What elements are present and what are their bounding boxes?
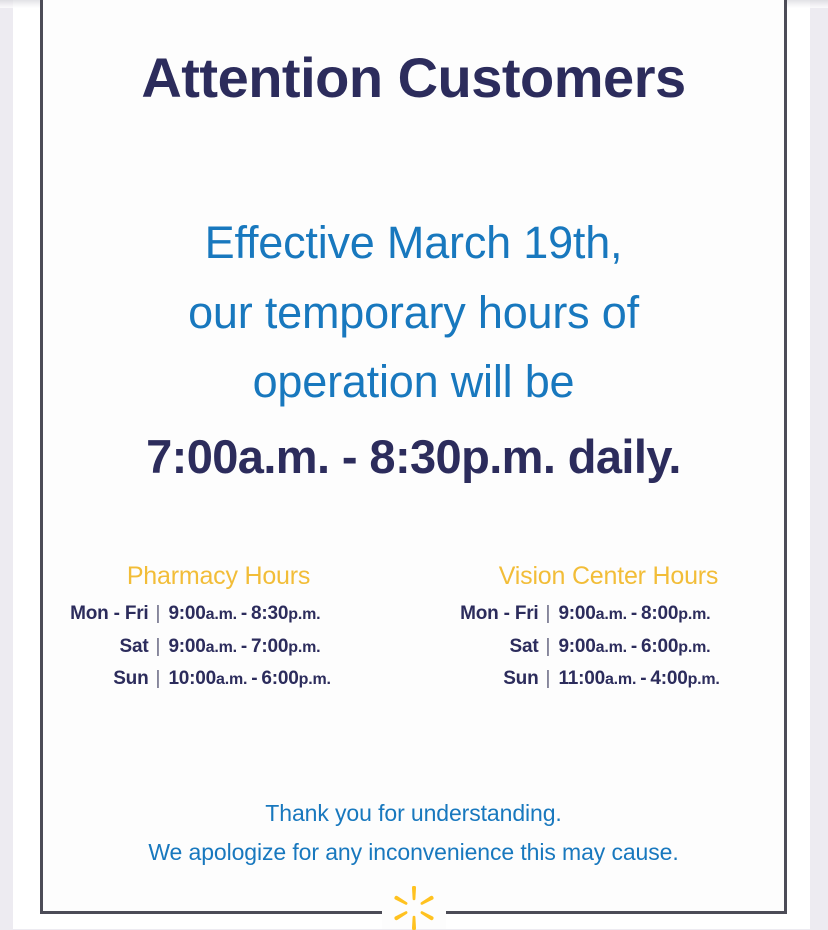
open-time: 11:00 (558, 668, 605, 689)
open-time: 9:00 (558, 603, 595, 624)
store-hours-headline: 7:00a.m. - 8:30p.m. daily. (43, 417, 784, 484)
open-time: 10:00 (168, 668, 216, 689)
department-pharmacy: Pharmacy Hours Mon - Fri | 9:00a.m.-8:30… (63, 562, 375, 696)
walmart-spark-logo (382, 887, 446, 929)
close-meridiem: p.m. (678, 606, 710, 623)
hours-separator: | (156, 598, 169, 631)
open-meridiem: a.m. (216, 671, 247, 688)
hours-day-label: Sat (63, 631, 156, 664)
effective-line-2: our temporary hours of (43, 278, 784, 348)
open-meridiem: a.m. (596, 639, 627, 656)
flyer-card: Attention Customers Effective March 19th… (40, 0, 787, 914)
hours-row: Sat | 9:00a.m.-7:00p.m. (63, 631, 375, 664)
close-meridiem: p.m. (288, 606, 320, 623)
department-title: Vision Center Hours (453, 562, 765, 591)
hours-time-range: 10:00a.m.-6:00p.m. (168, 663, 374, 696)
hours-separator: | (546, 631, 559, 664)
close-time: 4:00 (650, 668, 687, 689)
open-time: 9:00 (168, 636, 205, 657)
time-dash: - (627, 603, 641, 624)
time-dash: - (627, 636, 641, 657)
effective-notice: Effective March 19th, our temporary hour… (43, 108, 784, 417)
hours-row: Sun | 11:00a.m.-4:00p.m. (453, 663, 765, 696)
open-meridiem: a.m. (206, 606, 237, 623)
department-hours-list: Mon - Fri | 9:00a.m.-8:30p.m. Sat | 9:00… (63, 598, 375, 696)
page-title: Attention Customers (43, 0, 784, 108)
close-time: 6:00 (641, 636, 678, 657)
hours-day-label: Sun (453, 663, 546, 696)
department-vision-center: Vision Center Hours Mon - Fri | 9:00a.m.… (453, 562, 765, 696)
open-meridiem: a.m. (605, 671, 636, 688)
hours-time-range: 11:00a.m.-4:00p.m. (558, 663, 764, 696)
close-meridiem: p.m. (678, 639, 710, 656)
effective-line-1: Effective March 19th, (43, 208, 784, 278)
time-dash: - (237, 636, 251, 657)
page-right-margin (810, 0, 828, 929)
close-meridiem: p.m. (688, 671, 720, 688)
department-hours-section: Pharmacy Hours Mon - Fri | 9:00a.m.-8:30… (43, 484, 784, 696)
hours-day-label: Mon - Fri (453, 598, 546, 631)
hours-separator: | (156, 663, 169, 696)
department-title: Pharmacy Hours (63, 562, 375, 591)
walmart-spark-icon (392, 886, 436, 930)
hours-time-range: 9:00a.m.-6:00p.m. (558, 631, 764, 664)
open-time: 9:00 (558, 636, 595, 657)
time-dash: - (237, 603, 251, 624)
effective-line-3: operation will be (43, 347, 784, 417)
hours-separator: | (156, 631, 169, 664)
open-meridiem: a.m. (596, 606, 627, 623)
close-time: 6:00 (261, 668, 298, 689)
open-time: 9:00 (168, 603, 205, 624)
time-dash: - (636, 668, 650, 689)
close-meridiem: p.m. (299, 671, 331, 688)
department-hours-list: Mon - Fri | 9:00a.m.-8:00p.m. Sat | 9:00… (453, 598, 765, 696)
close-time: 8:00 (641, 603, 678, 624)
hours-time-range: 9:00a.m.-8:00p.m. (558, 598, 764, 631)
hours-day-label: Sun (63, 663, 156, 696)
hours-row: Mon - Fri | 9:00a.m.-8:30p.m. (63, 598, 375, 631)
closing-line-2: We apologize for any inconvenience this … (43, 833, 784, 872)
hours-day-label: Mon - Fri (63, 598, 156, 631)
open-meridiem: a.m. (206, 639, 237, 656)
hours-time-range: 9:00a.m.-7:00p.m. (168, 631, 374, 664)
closing-line-1: Thank you for understanding. (43, 794, 784, 833)
close-meridiem: p.m. (288, 639, 320, 656)
hours-separator: | (546, 598, 559, 631)
closing-message: Thank you for understanding. We apologiz… (43, 696, 784, 871)
hours-separator: | (546, 663, 559, 696)
time-dash: - (247, 668, 261, 689)
hours-row: Sat | 9:00a.m.-6:00p.m. (453, 631, 765, 664)
hours-time-range: 9:00a.m.-8:30p.m. (168, 598, 374, 631)
close-time: 8:30 (251, 603, 288, 624)
hours-row: Mon - Fri | 9:00a.m.-8:00p.m. (453, 598, 765, 631)
close-time: 7:00 (251, 636, 288, 657)
hours-day-label: Sat (453, 631, 546, 664)
hours-row: Sun | 10:00a.m.-6:00p.m. (63, 663, 375, 696)
